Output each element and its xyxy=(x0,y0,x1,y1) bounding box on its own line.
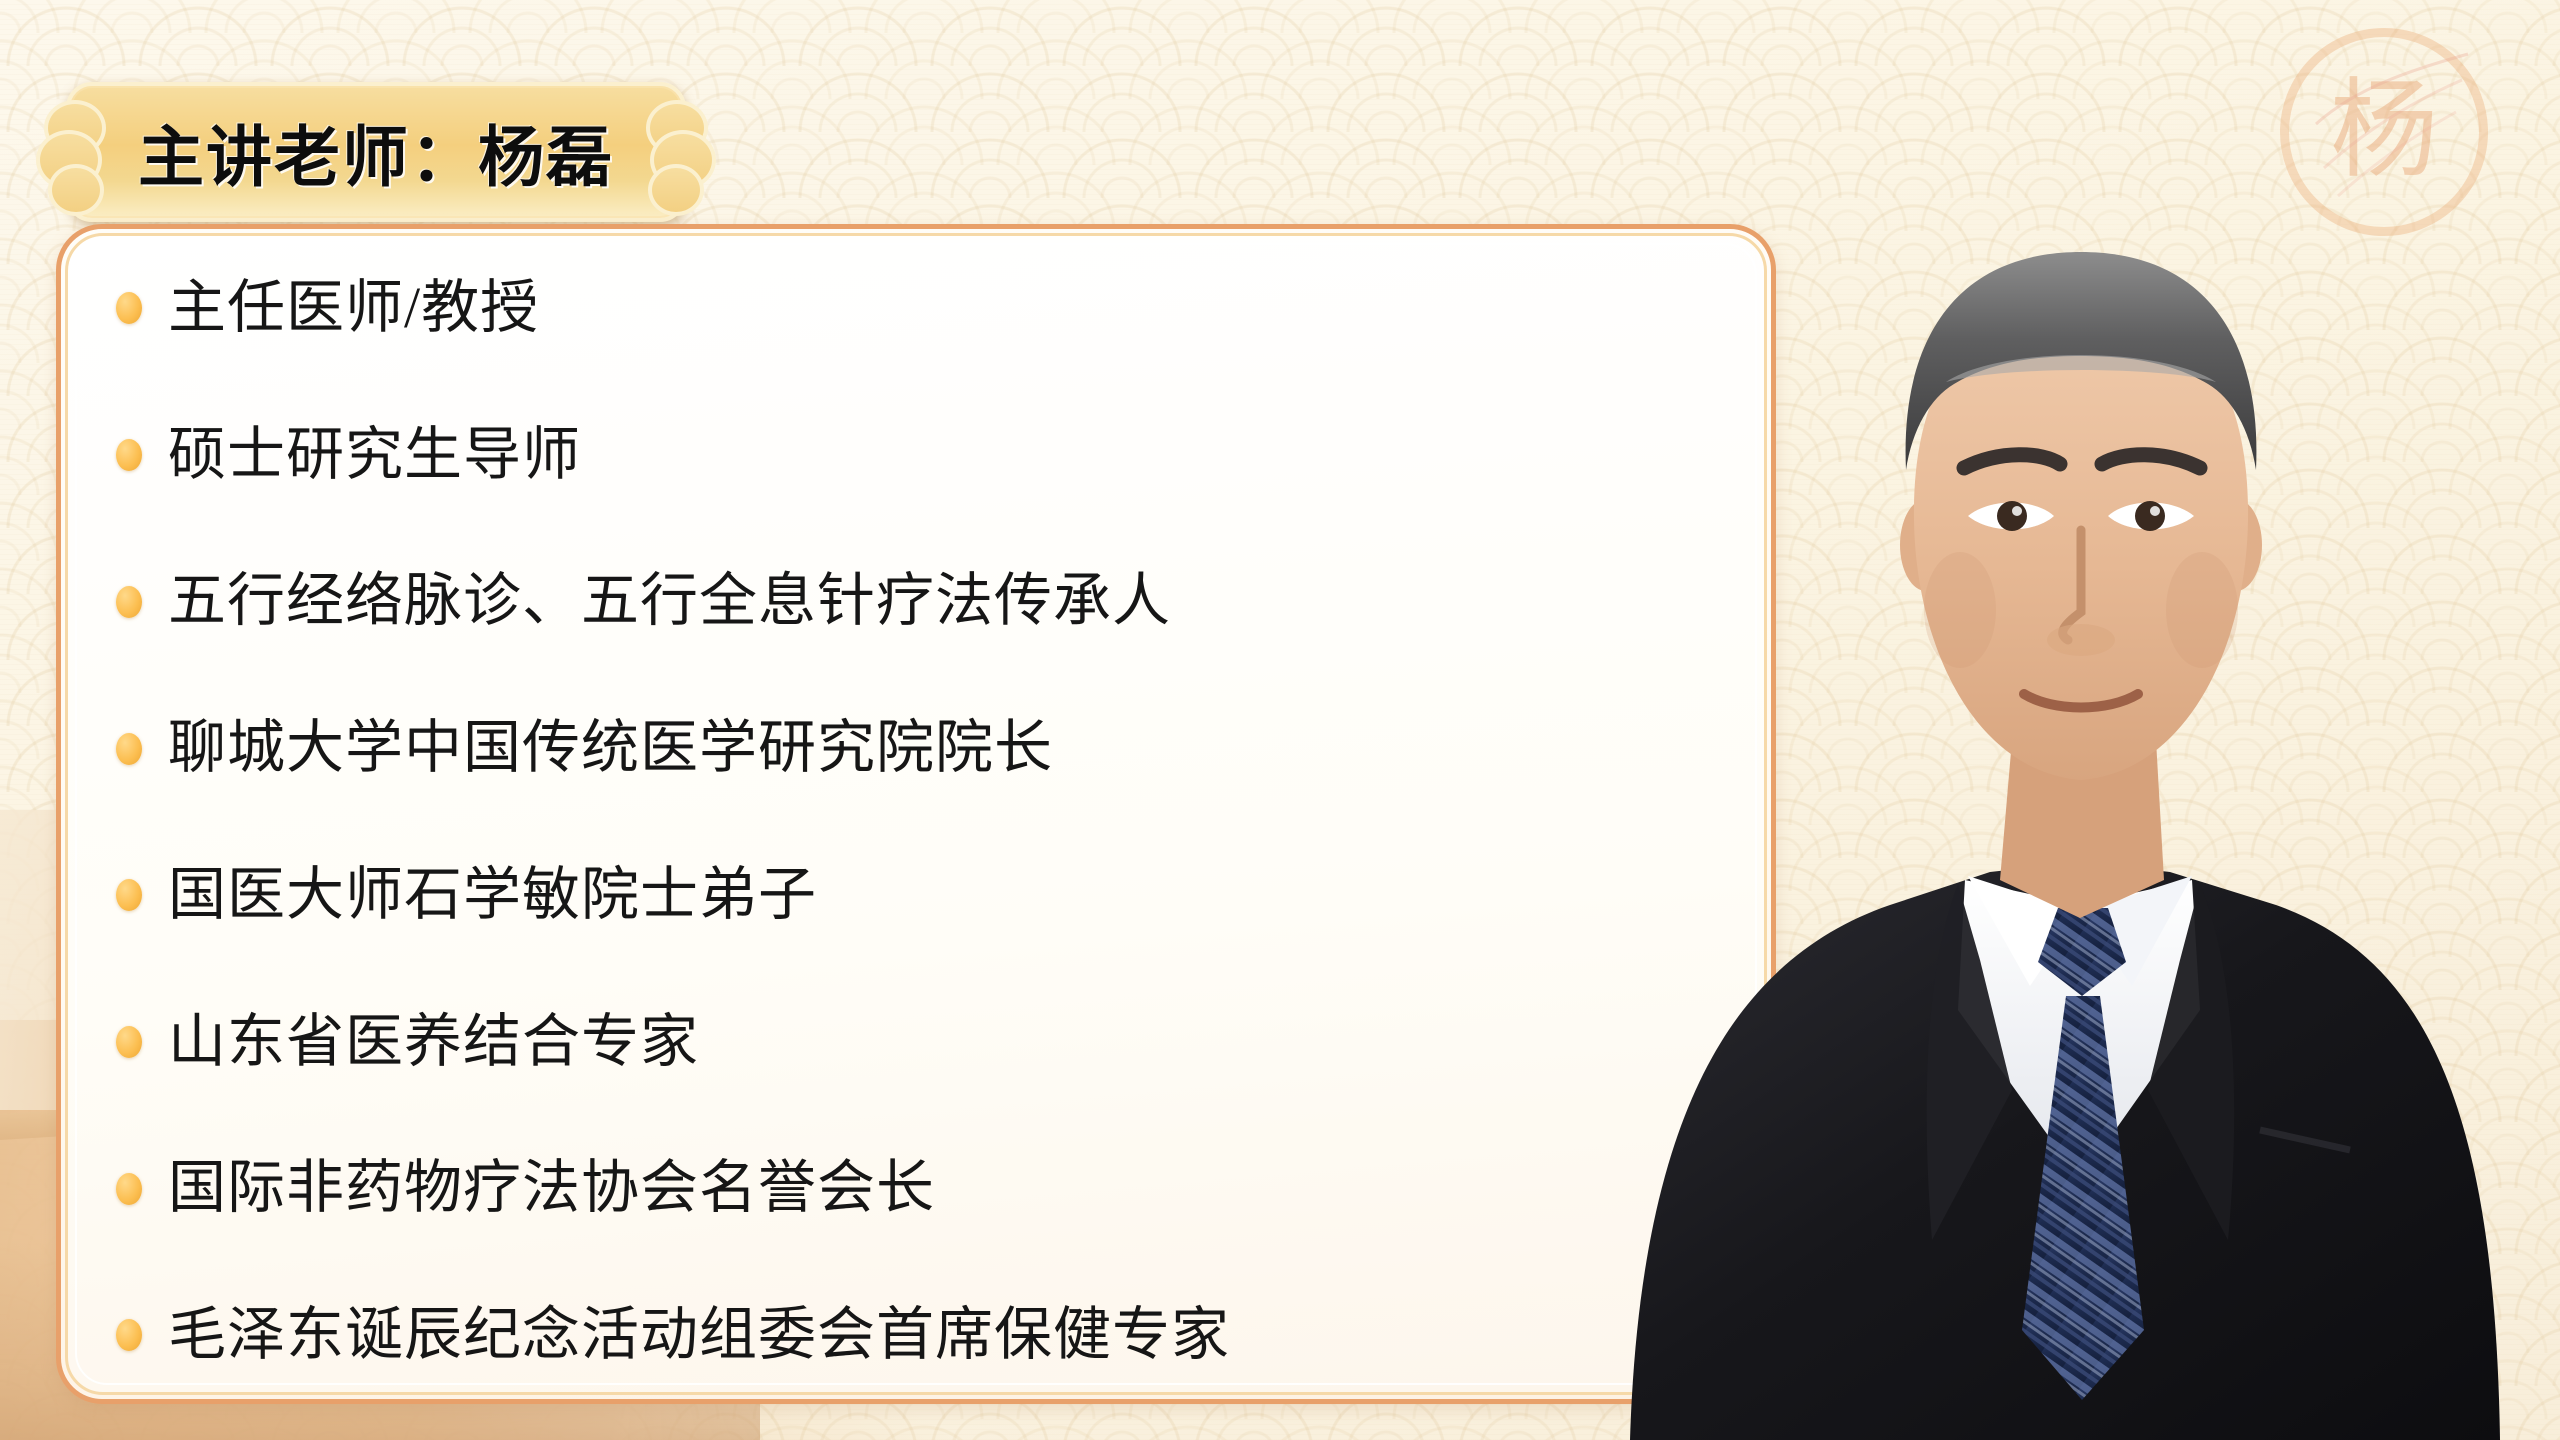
bullet-dot-icon xyxy=(116,439,142,471)
credentials-card: 主任医师/教授 硕士研究生导师 五行经络脉诊、五行全息针疗法传承人 聊城大学中国… xyxy=(56,224,1776,1404)
bullet-dot-icon xyxy=(116,586,142,618)
plaque-body: 主讲老师：杨磊 xyxy=(66,82,686,222)
credential-text: 毛泽东诞辰纪念活动组委会首席保健专家 xyxy=(168,1305,1230,1366)
necktie-knot xyxy=(2038,908,2126,996)
hair xyxy=(1906,252,2257,470)
bullet-dot-icon xyxy=(116,292,142,324)
dress-shirt xyxy=(1958,880,2200,1180)
credential-text: 五行经络脉诊、五行全息针疗法传承人 xyxy=(168,571,1171,632)
bullet-dot-icon xyxy=(116,733,142,765)
list-item: 国际非药物疗法协会名誉会长 xyxy=(116,1158,1736,1219)
bullet-dot-icon xyxy=(116,1173,142,1205)
credential-text: 聊城大学中国传统医学研究院院长 xyxy=(168,718,1053,779)
seal-character: 杨 xyxy=(2330,78,2438,186)
list-item: 主任医师/教授 xyxy=(116,278,1736,339)
list-item: 五行经络脉诊、五行全息针疗法传承人 xyxy=(116,571,1736,632)
neck xyxy=(2000,740,2164,918)
slide-canvas: 杨 主讲老师：杨磊 主任医师/教授 xyxy=(0,0,2560,1440)
credential-text: 国际非药物疗法协会名誉会长 xyxy=(168,1158,935,1219)
bullet-dot-icon xyxy=(116,879,142,911)
seal-stamp-icon: 杨 xyxy=(2280,28,2488,236)
credentials-list: 主任医师/教授 硕士研究生导师 五行经络脉诊、五行全息针疗法传承人 聊城大学中国… xyxy=(116,260,1736,1378)
face xyxy=(1914,300,2248,780)
credential-text: 国医大师石学敏院士弟子 xyxy=(168,865,817,926)
list-item: 山东省医养结合专家 xyxy=(116,1012,1736,1073)
bullet-dot-icon xyxy=(116,1319,142,1351)
plaque-lobe-left-3 xyxy=(48,164,104,216)
list-item: 国医大师石学敏院士弟子 xyxy=(116,865,1736,926)
seal-stroke-decoration xyxy=(2298,28,2488,218)
title-plaque: 主讲老师：杨磊 xyxy=(66,82,686,222)
list-item: 聊城大学中国传统医学研究院院长 xyxy=(116,718,1736,779)
page-title: 主讲老师：杨磊 xyxy=(138,104,614,200)
necktie xyxy=(2022,996,2144,1400)
list-item: 毛泽东诞辰纪念活动组委会首席保健专家 xyxy=(116,1305,1736,1366)
credential-text: 硕士研究生导师 xyxy=(168,425,581,486)
list-item: 硕士研究生导师 xyxy=(116,425,1736,486)
credential-text: 山东省医养结合专家 xyxy=(168,1012,699,1073)
bullet-dot-icon xyxy=(116,1026,142,1058)
plaque-lobe-right-3 xyxy=(648,164,704,216)
credential-text: 主任医师/教授 xyxy=(168,278,539,339)
